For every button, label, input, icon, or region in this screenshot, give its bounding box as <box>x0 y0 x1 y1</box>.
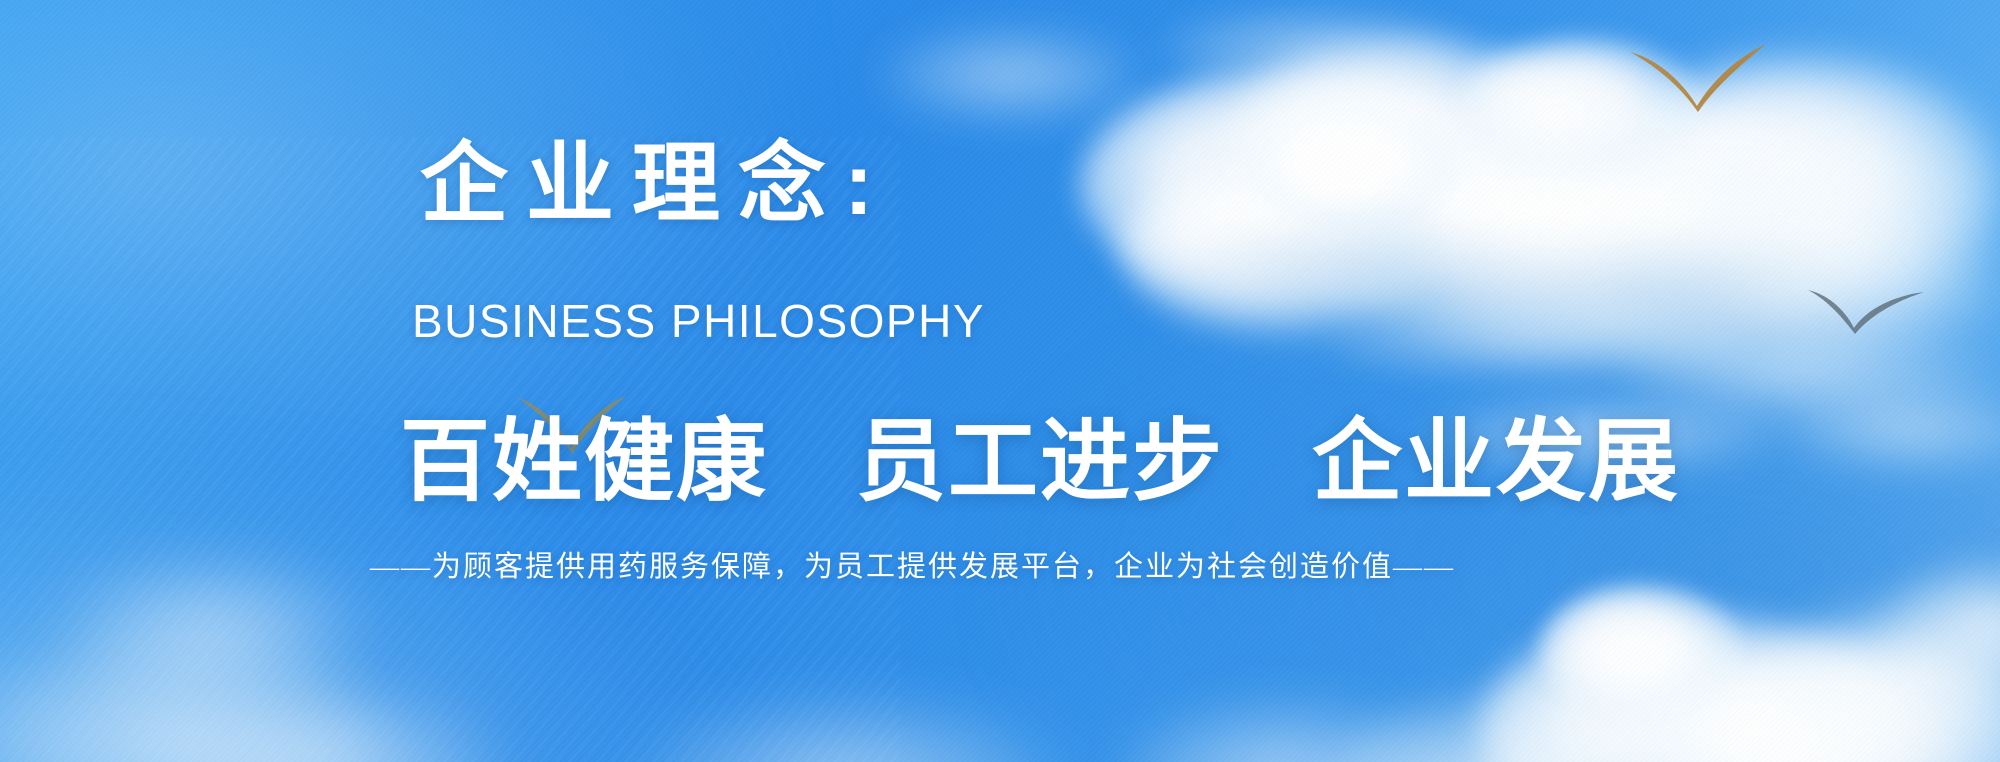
page-subtitle-english: BUSINESS PHILOSOPHY <box>412 298 985 344</box>
tagline-text: ——为顾客提供用药服务保障，为员工提供发展平台，企业为社会创造价值—— <box>370 553 1455 582</box>
slogan-part-2: 员工进步 <box>856 412 1224 512</box>
slogan-part-3: 企业发展 <box>1312 412 1680 512</box>
business-philosophy-banner: 企业理念: BUSINESS PHILOSOPHY 百姓健康 员工进步 企业发展… <box>0 0 2000 762</box>
slogan-part-1: 百姓健康 <box>400 412 768 512</box>
text-content-block: 企业理念: BUSINESS PHILOSOPHY 百姓健康 员工进步 企业发展… <box>0 0 2000 762</box>
page-title-chinese: 企业理念: <box>420 140 891 228</box>
slogan-line: 百姓健康 员工进步 企业发展 <box>400 415 1680 510</box>
